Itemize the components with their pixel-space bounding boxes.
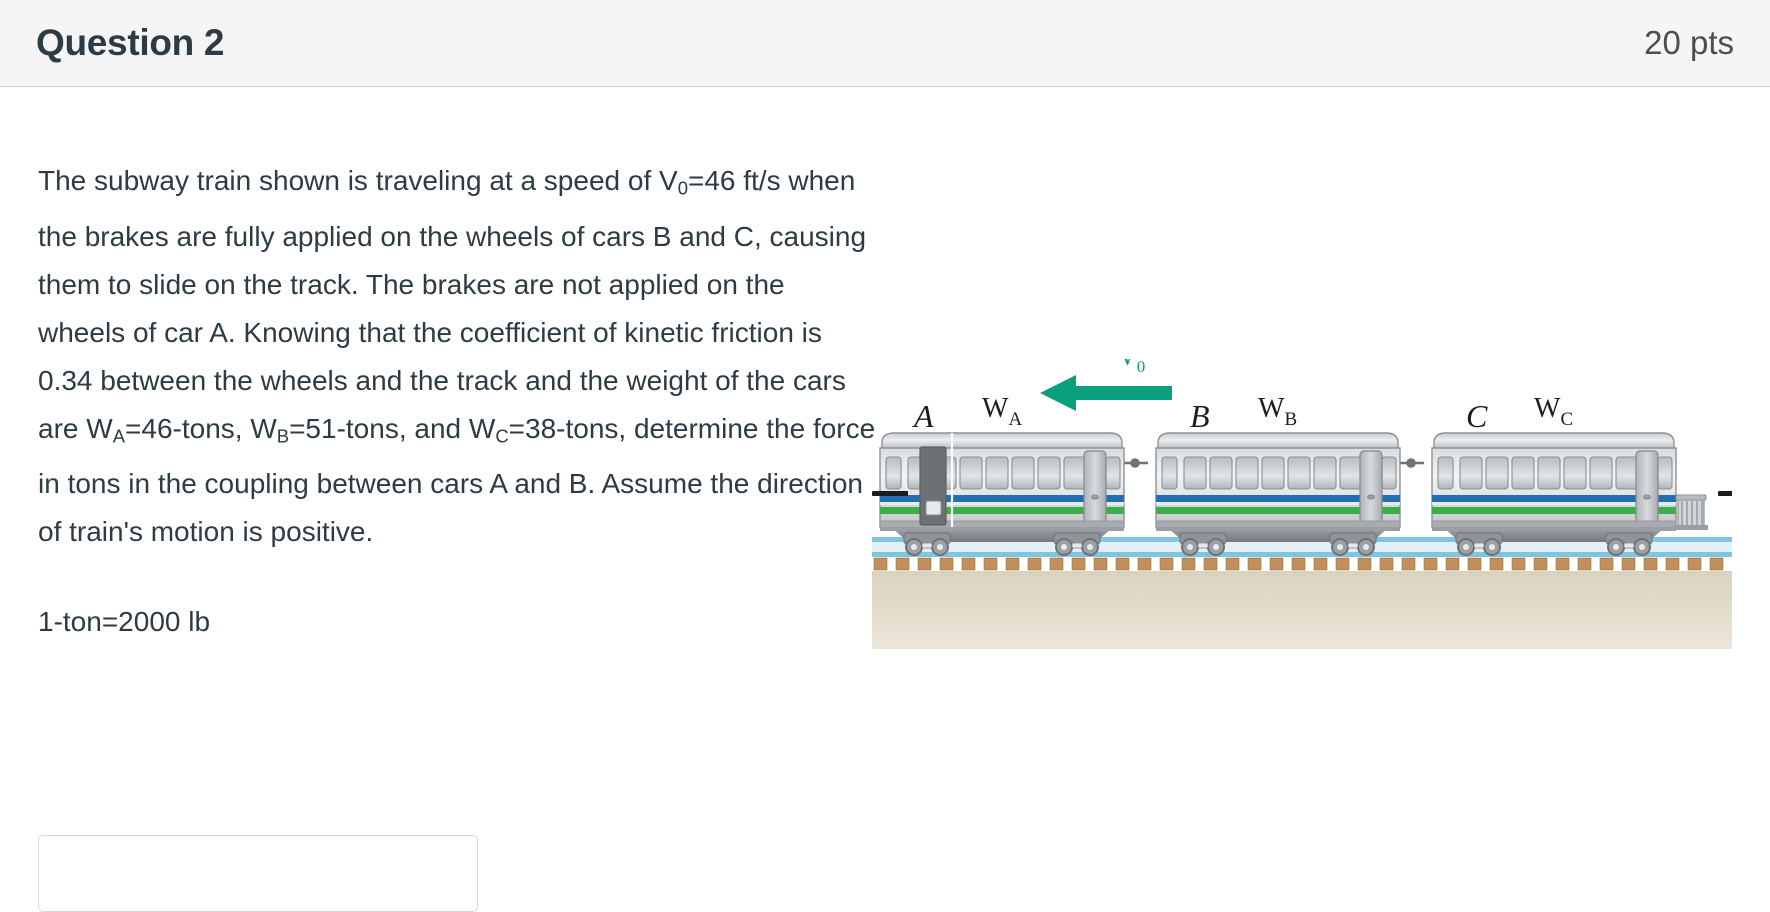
- coupling-a-b: [1122, 459, 1148, 466]
- train-figure: V0 A WA B WB C WC: [872, 359, 1732, 659]
- points-badge: 20 pts: [1644, 24, 1734, 62]
- label-car-a: A: [912, 398, 934, 434]
- answer-input[interactable]: [38, 835, 478, 912]
- prompt-text-d: =51-tons, and W: [289, 413, 495, 444]
- prompt-sub-wc: C: [495, 425, 508, 446]
- prompt-text-b: =46 ft/s when the brakes are fully appli…: [38, 165, 866, 444]
- prompt-sub-wb: B: [277, 425, 289, 446]
- ground: [872, 571, 1732, 649]
- label-car-c: C: [1466, 398, 1488, 434]
- prompt-paragraph-2: 1-ton=2000 lb: [38, 598, 878, 646]
- question-header: Question 2 20 pts: [0, 0, 1770, 87]
- train-car-c: [1432, 433, 1676, 555]
- label-weight-a: WA: [982, 393, 1022, 430]
- prompt-text-c: =46-tons, W: [125, 413, 277, 444]
- coupling-b-c: [1398, 459, 1424, 466]
- car-c-rear-platform: [1674, 495, 1708, 530]
- label-weight-c: WC: [1534, 393, 1573, 430]
- velocity-label: V0: [1118, 359, 1145, 376]
- prompt-text-a: The subway train shown is traveling at a…: [38, 165, 678, 196]
- velocity-arrow-icon: [1040, 375, 1172, 411]
- prompt-sub-wa: A: [113, 425, 125, 446]
- track-ties: [872, 557, 1732, 571]
- prompt-sub-v0: 0: [678, 178, 688, 199]
- train-car-a: [880, 433, 1124, 555]
- right-reference-dash: [1718, 491, 1732, 496]
- figure-labels: A WA B WB C WC: [912, 393, 1573, 434]
- left-reference-dash: [872, 491, 908, 496]
- question-body: The subway train shown is traveling at a…: [0, 87, 1770, 888]
- label-car-b: B: [1190, 398, 1210, 434]
- prompt-paragraph-1: The subway train shown is traveling at a…: [38, 157, 878, 556]
- label-weight-b: WB: [1258, 393, 1297, 430]
- question-prompt: The subway train shown is traveling at a…: [38, 157, 878, 646]
- train-car-b: [1156, 433, 1400, 555]
- page-title: Question 2: [36, 22, 224, 64]
